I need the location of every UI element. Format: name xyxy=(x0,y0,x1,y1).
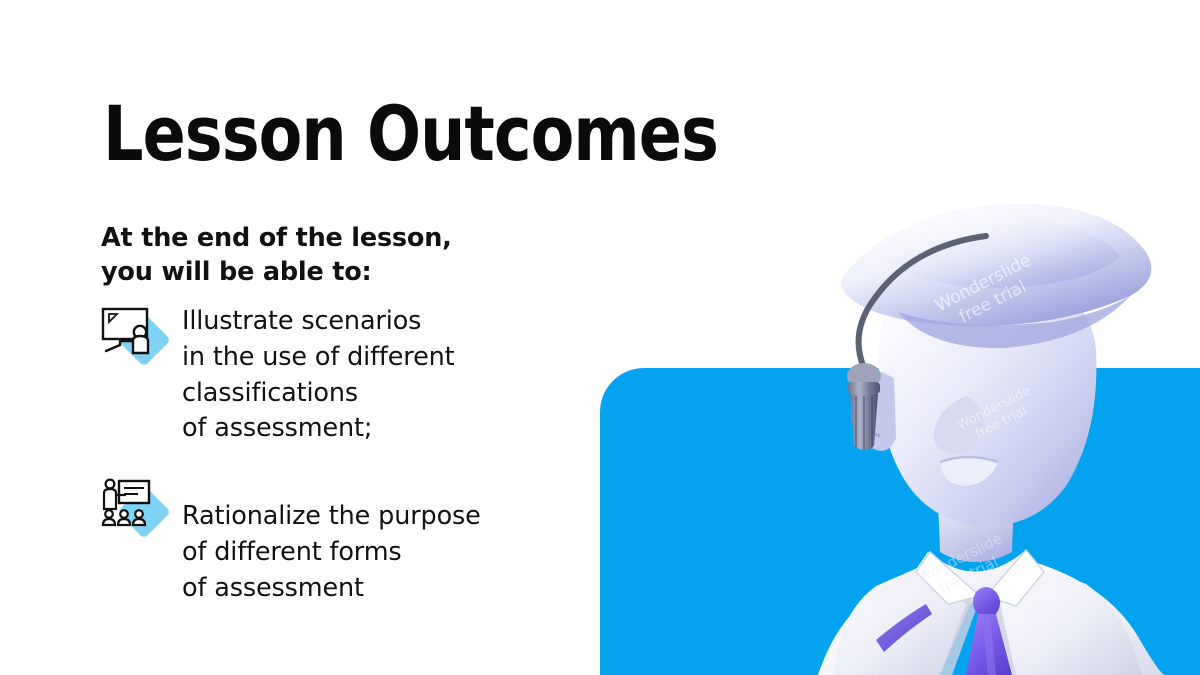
bullet-line: of assessment xyxy=(182,571,481,607)
list-item-text: Illustrate scenarios in the use of diffe… xyxy=(182,303,454,447)
bullet-line: Rationalize the purpose xyxy=(182,499,481,535)
bullet-line: classifications xyxy=(182,376,454,412)
outcomes-list: Illustrate scenarios in the use of diffe… xyxy=(96,303,566,607)
whiteboard-presenter-icon xyxy=(100,305,158,357)
slide-subtitle: At the end of the lesson, you will be ab… xyxy=(101,222,531,290)
slide-canvas: Wonderslide free trial Wonderslide free … xyxy=(0,0,1200,675)
graduate-character-illustration: Wonderslide free trial Wonderslide free … xyxy=(790,200,1200,675)
bullet-icon-container xyxy=(96,477,174,539)
bullet-line: of assessment; xyxy=(182,411,454,447)
bullet-line: Illustrate scenarios xyxy=(182,304,454,340)
subtitle-line-2: you will be able to: xyxy=(101,256,531,290)
page-title: Lesson Outcomes xyxy=(103,96,718,172)
list-item-text: Rationalize the purpose of different for… xyxy=(182,477,481,606)
list-item: Illustrate scenarios in the use of diffe… xyxy=(96,303,566,447)
classroom-lecture-icon xyxy=(100,477,158,529)
bullet-line: of different forms xyxy=(182,535,481,571)
bullet-icon-container xyxy=(96,303,174,365)
list-item: Rationalize the purpose of different for… xyxy=(96,477,566,606)
tassel-band xyxy=(848,382,880,394)
subtitle-line-1: At the end of the lesson, xyxy=(101,222,531,256)
bullet-line: in the use of different xyxy=(182,340,454,376)
